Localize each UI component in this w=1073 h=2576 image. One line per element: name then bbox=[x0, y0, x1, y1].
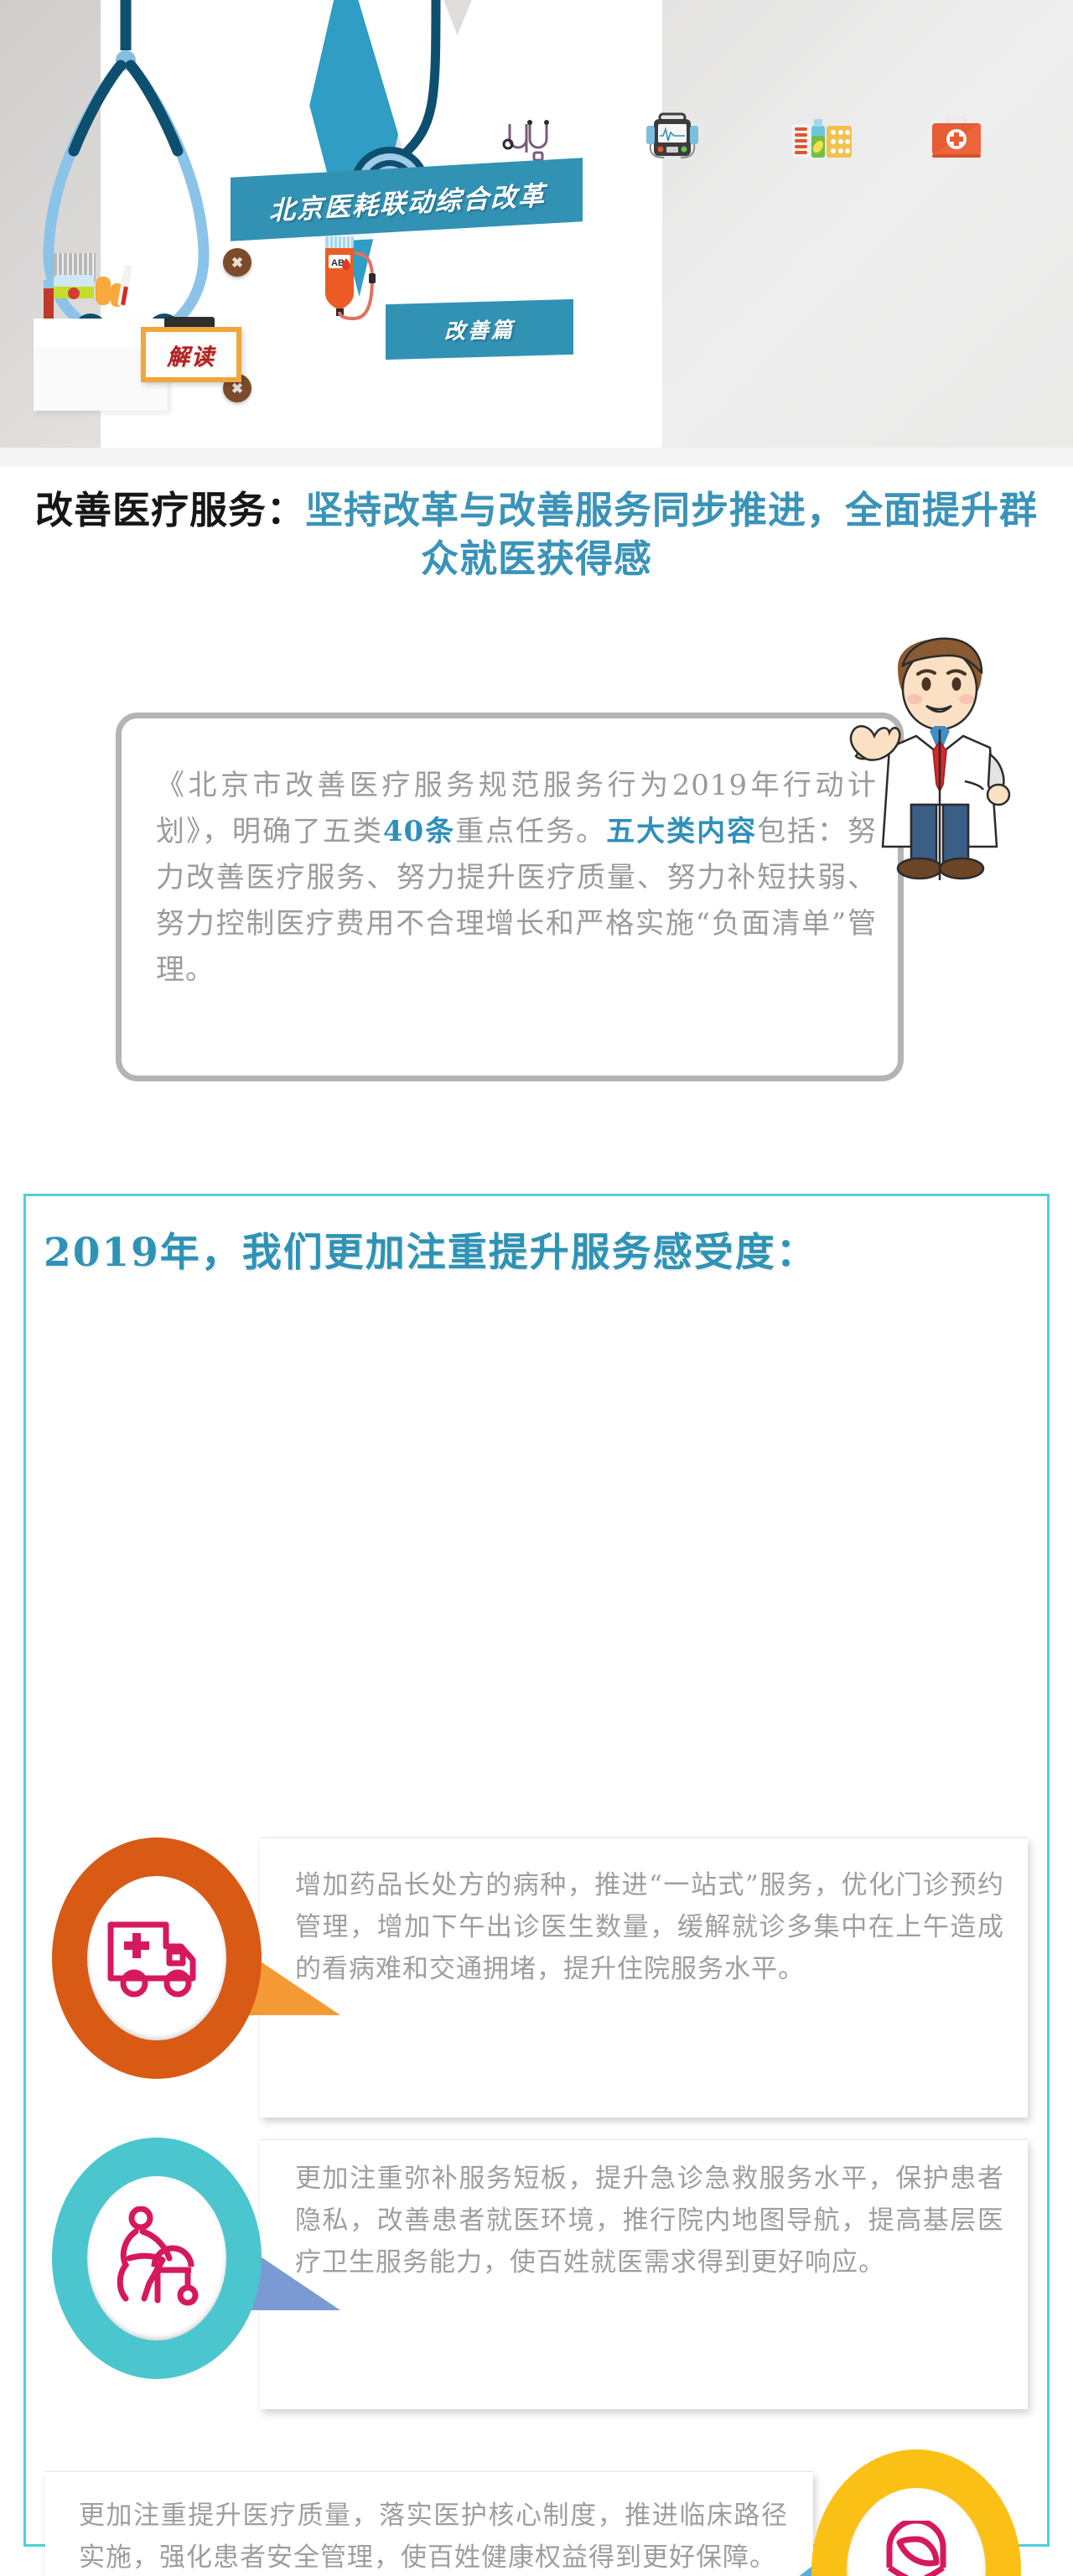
defibrillator-icon bbox=[645, 112, 713, 171]
doctor-character-illustration bbox=[842, 637, 1035, 889]
ambulance-icon bbox=[106, 1916, 208, 2000]
card-2-icon-ring bbox=[52, 2138, 262, 2379]
interpretation-stamp: 解读 bbox=[141, 327, 241, 382]
blood-bag-icon: AB bbox=[320, 235, 391, 360]
card-2-text: 更加注重弥补服务短板，提升急诊急救服务水平，保护患者隐私，改善患者就医环境，推行… bbox=[295, 2158, 1004, 2284]
section-title: 2019年，我们更加注重提升服务感受度： bbox=[44, 1220, 817, 1278]
card-3-icon-disc bbox=[847, 2488, 986, 2576]
infographic-page: ✖ ✖ bbox=[0, 0, 1073, 2576]
card-1-icon-ring bbox=[52, 1837, 262, 2079]
policy-summary-segment-2: 重点任务。 bbox=[455, 815, 606, 848]
hero-bottom-strip bbox=[0, 448, 1073, 466]
card-3-text: 更加注重提升医疗质量，落实医护核心制度，推进临床路径实施，强化患者安全管理，使百… bbox=[79, 2495, 788, 2576]
page-title-prefix: 改善医疗服务： bbox=[35, 488, 305, 532]
card-2-icon-disc bbox=[87, 2176, 226, 2340]
policy-summary-text: 《北京市改善医疗服务规范服务行为2019年行动计划》，明确了五类40条重点任务。… bbox=[156, 763, 877, 993]
walker-patient-icon bbox=[111, 2206, 203, 2310]
policy-summary-segment-3: 五大类内容 bbox=[606, 815, 757, 848]
policy-summary-segment-1: 40条 bbox=[383, 815, 455, 848]
first-aid-kit-icon bbox=[930, 117, 982, 161]
card-1-text: 增加药品长处方的病种，推进“一站式”服务，优化门诊预约管理，增加下午出诊医生数量… bbox=[295, 1864, 1004, 1991]
banner-subtitle: 改善篇 bbox=[386, 301, 573, 358]
interpretation-stamp-label: 解读 bbox=[146, 332, 236, 377]
hero-header: ✖ ✖ bbox=[0, 0, 1073, 466]
page-title: 改善医疗服务：坚持改革与改善服务同步推进，全面提升群众就医获得感 bbox=[0, 486, 1073, 583]
nurse-icon bbox=[869, 2521, 963, 2576]
card-1-icon-disc bbox=[87, 1876, 226, 2040]
page-title-main: 坚持改革与改善服务同步推进，全面提升群众就医获得感 bbox=[305, 488, 1038, 581]
pills-icon bbox=[792, 116, 853, 166]
